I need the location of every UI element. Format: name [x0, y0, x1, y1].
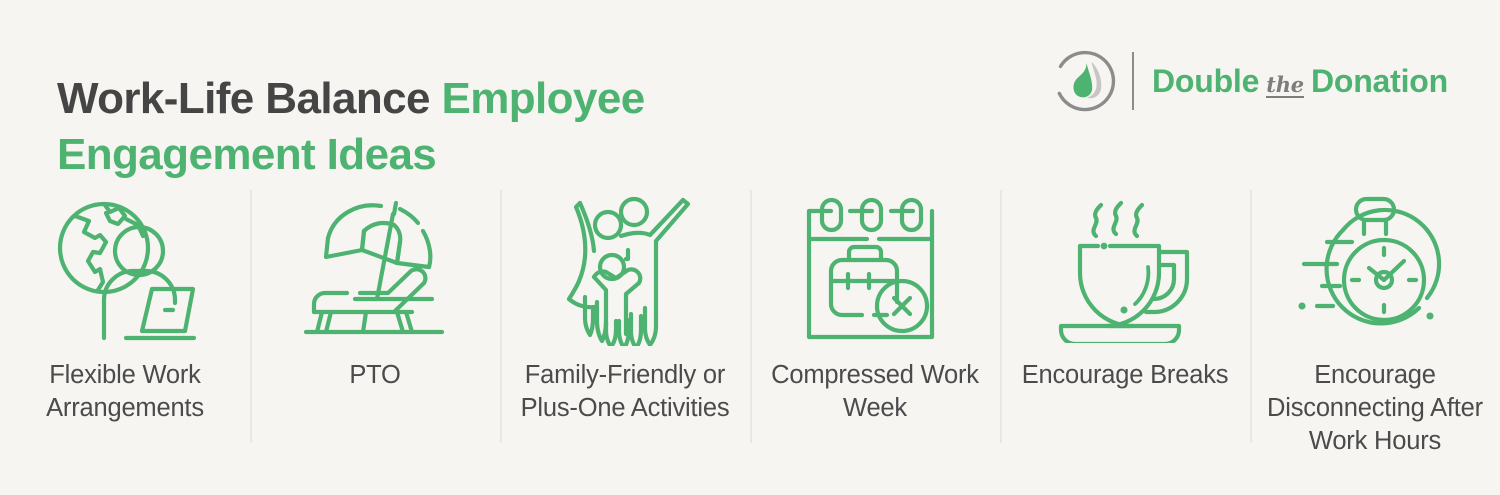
- globe-person-laptop-icon: [48, 195, 203, 345]
- page-title: Work-Life Balance Employee Engagement Id…: [57, 71, 777, 183]
- calendar-briefcase-x-icon: [801, 195, 949, 345]
- beach-umbrella-lounger-icon: [300, 195, 450, 345]
- header: Work-Life Balance Employee Engagement Id…: [0, 0, 1500, 175]
- brand-logo[interactable]: Double the Donation: [1052, 48, 1448, 114]
- card-family-friendly[interactable]: Family-Friendly or Plus-One Activities: [500, 175, 750, 465]
- card-label: PTO: [258, 359, 493, 392]
- logo-word-the: the: [1266, 74, 1304, 98]
- logo-mark-icon: [1052, 48, 1118, 114]
- logo-wordmark: Double the Donation: [1152, 63, 1448, 100]
- card-label: Encourage Disconnecting After Work Hours: [1258, 359, 1493, 458]
- logo-word-double: Double: [1152, 63, 1259, 100]
- card-label: Family-Friendly or Plus-One Activities: [508, 359, 743, 425]
- card-encourage-disconnecting[interactable]: Encourage Disconnecting After Work Hours: [1250, 175, 1500, 465]
- logo-divider: [1132, 52, 1134, 110]
- stopwatch-speed-icon: [1296, 195, 1454, 345]
- title-part-dark: Work-Life Balance: [57, 74, 442, 123]
- card-encourage-breaks[interactable]: Encourage Breaks: [1000, 175, 1250, 465]
- card-compressed-week[interactable]: Compressed Work Week: [750, 175, 1000, 465]
- coffee-cup-steam-icon: [1051, 195, 1199, 345]
- family-figures-icon: [555, 195, 695, 345]
- card-pto[interactable]: PTO: [250, 175, 500, 465]
- card-label: Compressed Work Week: [758, 359, 993, 425]
- card-label: Flexible Work Arrangements: [8, 359, 243, 425]
- infographic-page: Work-Life Balance Employee Engagement Id…: [0, 0, 1500, 495]
- card-flexible-work[interactable]: Flexible Work Arrangements: [0, 175, 250, 465]
- card-label: Encourage Breaks: [1008, 359, 1243, 392]
- logo-word-donation: Donation: [1311, 63, 1448, 100]
- idea-cards-row: Flexible Work Arrangements: [0, 175, 1500, 465]
